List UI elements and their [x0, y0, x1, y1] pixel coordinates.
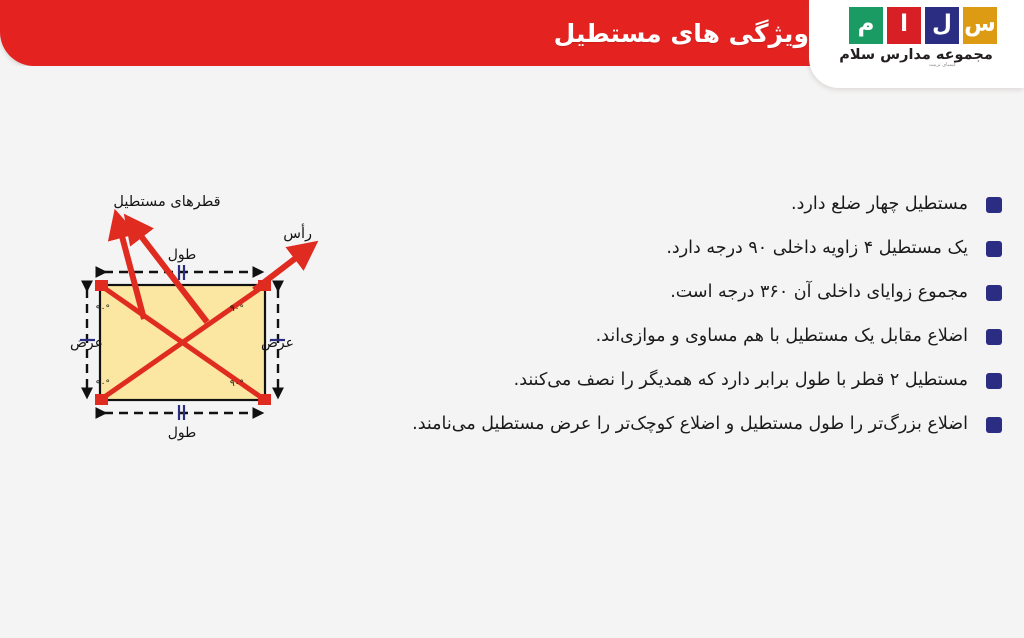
label-vertex: رأس	[283, 223, 312, 242]
logo-subtitle: مجموعه مدارس سلام	[835, 47, 997, 63]
label-width-left: عرض	[70, 335, 103, 351]
list-item: مستطیل ۲ قطر با طول برابر دارد که همدیگر…	[342, 359, 1002, 403]
logo-letter-squares: س ل ا م	[849, 7, 997, 44]
label-width-right: عرض	[261, 335, 294, 351]
list-item-label: مستطیل چهار ضلع دارد.	[791, 193, 968, 217]
slide-root: ویژگی های مستطیل س ل ا م مجموعه مدارس سل…	[0, 0, 1024, 638]
callout-arrow-vertex	[254, 251, 305, 290]
vertex-marker-br	[258, 394, 271, 405]
angle-label-top-right: ۹۰°	[230, 304, 244, 314]
angle-label-bottom-left: ۹۰°	[96, 379, 110, 389]
label-diagonals: قطرهای مستطیل	[113, 194, 220, 210]
bullet-marker-icon	[986, 373, 1002, 389]
properties-list: مستطیل چهار ضلع دارد. یک مستطیل ۴ زاویه …	[342, 183, 1002, 447]
list-item-label: اضلاع بزرگ‌تر را طول مستطیل و اضلاع کوچک…	[412, 413, 968, 437]
logo-square-seen: س	[963, 7, 997, 44]
vertex-marker-bl	[95, 394, 108, 405]
list-item-label: یک مستطیل ۴ زاویه داخلی ۹۰ درجه دارد.	[666, 237, 968, 261]
bullet-marker-icon	[986, 285, 1002, 301]
angle-label-bottom-right: ۹۰°	[230, 379, 244, 389]
rectangle-properties-diagram: ۹۰° ۹۰° ۹۰° ۹۰°	[22, 172, 362, 442]
vertex-marker-tl	[95, 280, 108, 291]
logo-tagline: کیمیای تربیت	[929, 62, 956, 68]
brand-logo-panel: س ل ا م مجموعه مدارس سلام کیمیای تربیت	[809, 0, 1024, 88]
logo-square-alef: ا	[887, 7, 921, 44]
list-item-label: اضلاع مقابل یک مستطیل با هم مساوی و مواز…	[596, 325, 968, 349]
list-item-label: مستطیل ۲ قطر با طول برابر دارد که همدیگر…	[514, 369, 968, 393]
list-item-label: مجموع زوایای داخلی آن ۳۶۰ درجه است.	[670, 281, 968, 305]
logo-square-lam: ل	[925, 7, 959, 44]
angle-label-top-left: ۹۰°	[96, 304, 110, 314]
list-item: اضلاع مقابل یک مستطیل با هم مساوی و مواز…	[342, 315, 1002, 359]
bullet-marker-icon	[986, 417, 1002, 433]
label-length-top: طول	[168, 247, 197, 263]
bullet-marker-icon	[986, 241, 1002, 257]
list-item: مجموع زوایای داخلی آن ۳۶۰ درجه است.	[342, 271, 1002, 315]
label-length-bottom: طول	[168, 425, 197, 441]
page-title: ویژگی های مستطیل	[554, 0, 809, 66]
list-item: یک مستطیل ۴ زاویه داخلی ۹۰ درجه دارد.	[342, 227, 1002, 271]
slide-header: ویژگی های مستطیل س ل ا م مجموعه مدارس سل…	[0, 0, 1024, 100]
list-item: اضلاع بزرگ‌تر را طول مستطیل و اضلاع کوچک…	[342, 403, 1002, 447]
list-item: مستطیل چهار ضلع دارد.	[342, 183, 1002, 227]
logo-square-meem: م	[849, 7, 883, 44]
bullet-marker-icon	[986, 329, 1002, 345]
bullet-marker-icon	[986, 197, 1002, 213]
